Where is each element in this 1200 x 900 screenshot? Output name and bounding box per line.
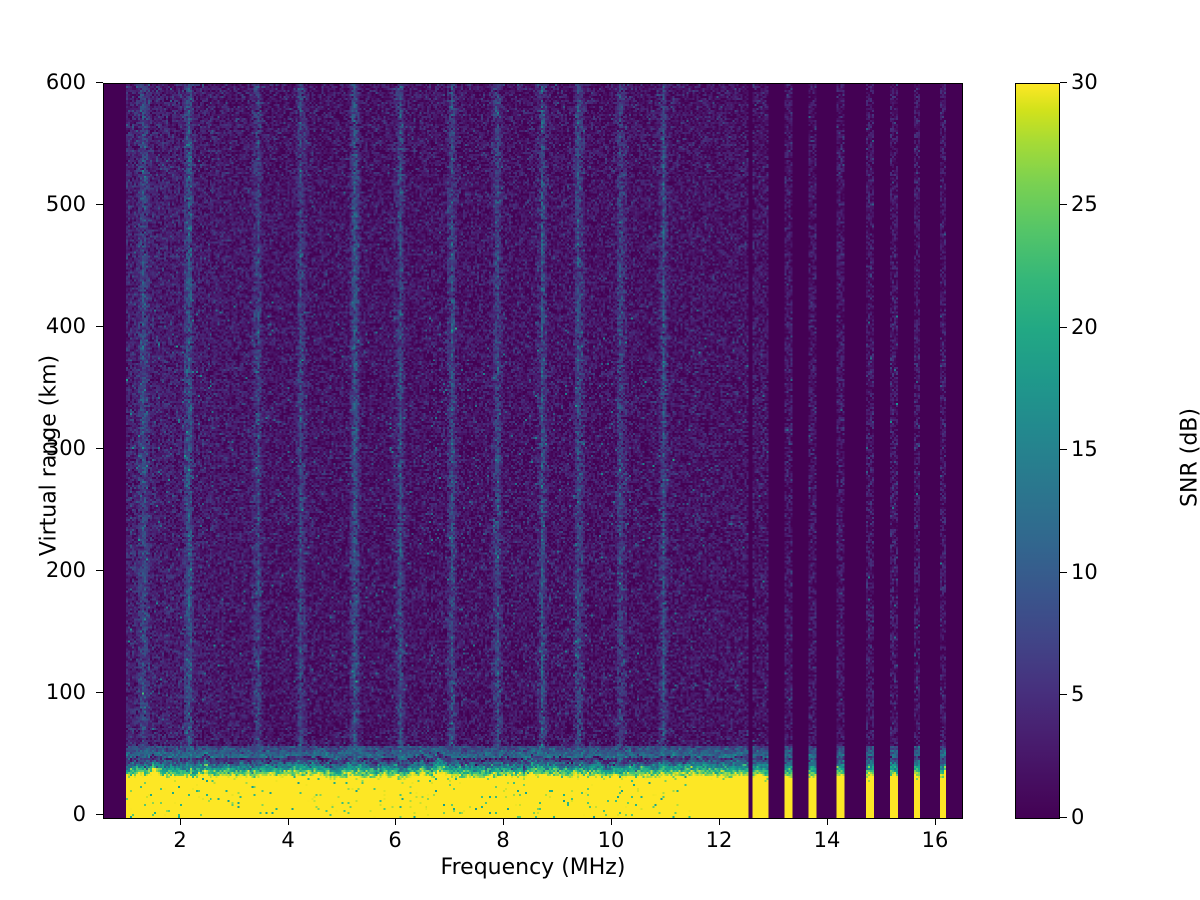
colorbar-gradient — [1015, 83, 1060, 819]
cbtick-mark-10 — [1060, 572, 1067, 573]
xtick-mark-6 — [395, 818, 396, 825]
colorbar-container: 30 25 20 15 10 5 0 — [1015, 83, 1060, 819]
xtick-label-14: 14 — [797, 830, 857, 851]
xtick-mark-14 — [827, 818, 828, 825]
xtick-label-4: 4 — [258, 830, 318, 851]
xtick-mark-12 — [719, 818, 720, 825]
cbtick-mark-15 — [1060, 449, 1067, 450]
cbtick-label-10: 10 — [1071, 562, 1131, 583]
xtick-label-16: 16 — [905, 830, 965, 851]
xtick-label-6: 6 — [365, 830, 425, 851]
xtick-mark-10 — [611, 818, 612, 825]
ionogram-plot-area — [103, 83, 963, 819]
cbtick-label-5: 5 — [1071, 684, 1131, 705]
xtick-label-10: 10 — [581, 830, 641, 851]
ytick-label-100: 100 — [6, 682, 86, 703]
cbtick-mark-30 — [1060, 82, 1067, 83]
xtick-label-2: 2 — [150, 830, 210, 851]
cbtick-mark-0 — [1060, 817, 1067, 818]
cbtick-label-25: 25 — [1071, 194, 1131, 215]
ytick-label-500: 500 — [6, 194, 86, 215]
ytick-mark-400 — [96, 326, 103, 327]
xtick-mark-4 — [288, 818, 289, 825]
ytick-label-0: 0 — [6, 804, 86, 825]
cbtick-label-30: 30 — [1071, 72, 1131, 93]
xtick-mark-16 — [935, 818, 936, 825]
ytick-mark-600 — [96, 82, 103, 83]
x-axis-label: Frequency (MHz) — [103, 855, 963, 880]
ytick-label-600: 600 — [6, 72, 86, 93]
ytick-mark-0 — [96, 814, 103, 815]
ionogram-figure: IRF Kiruna Ionosonde KI167 2025-09-23 12… — [0, 0, 1200, 900]
ytick-mark-100 — [96, 692, 103, 693]
cbtick-label-15: 15 — [1071, 439, 1131, 460]
cbtick-mark-20 — [1060, 327, 1067, 328]
cbtick-mark-25 — [1060, 204, 1067, 205]
cbtick-label-0: 0 — [1071, 807, 1131, 828]
xtick-label-12: 12 — [689, 830, 749, 851]
ionogram-heatmap — [104, 84, 962, 818]
colorbar-label: SNR (dB) — [1178, 308, 1200, 608]
xtick-mark-8 — [503, 818, 504, 825]
y-axis-label: Virtual range (km) — [37, 291, 62, 621]
xtick-mark-2 — [180, 818, 181, 825]
ytick-mark-300 — [96, 448, 103, 449]
ytick-mark-500 — [96, 204, 103, 205]
xtick-label-8: 8 — [473, 830, 533, 851]
ytick-mark-200 — [96, 570, 103, 571]
cbtick-label-20: 20 — [1071, 317, 1131, 338]
cbtick-mark-5 — [1060, 694, 1067, 695]
